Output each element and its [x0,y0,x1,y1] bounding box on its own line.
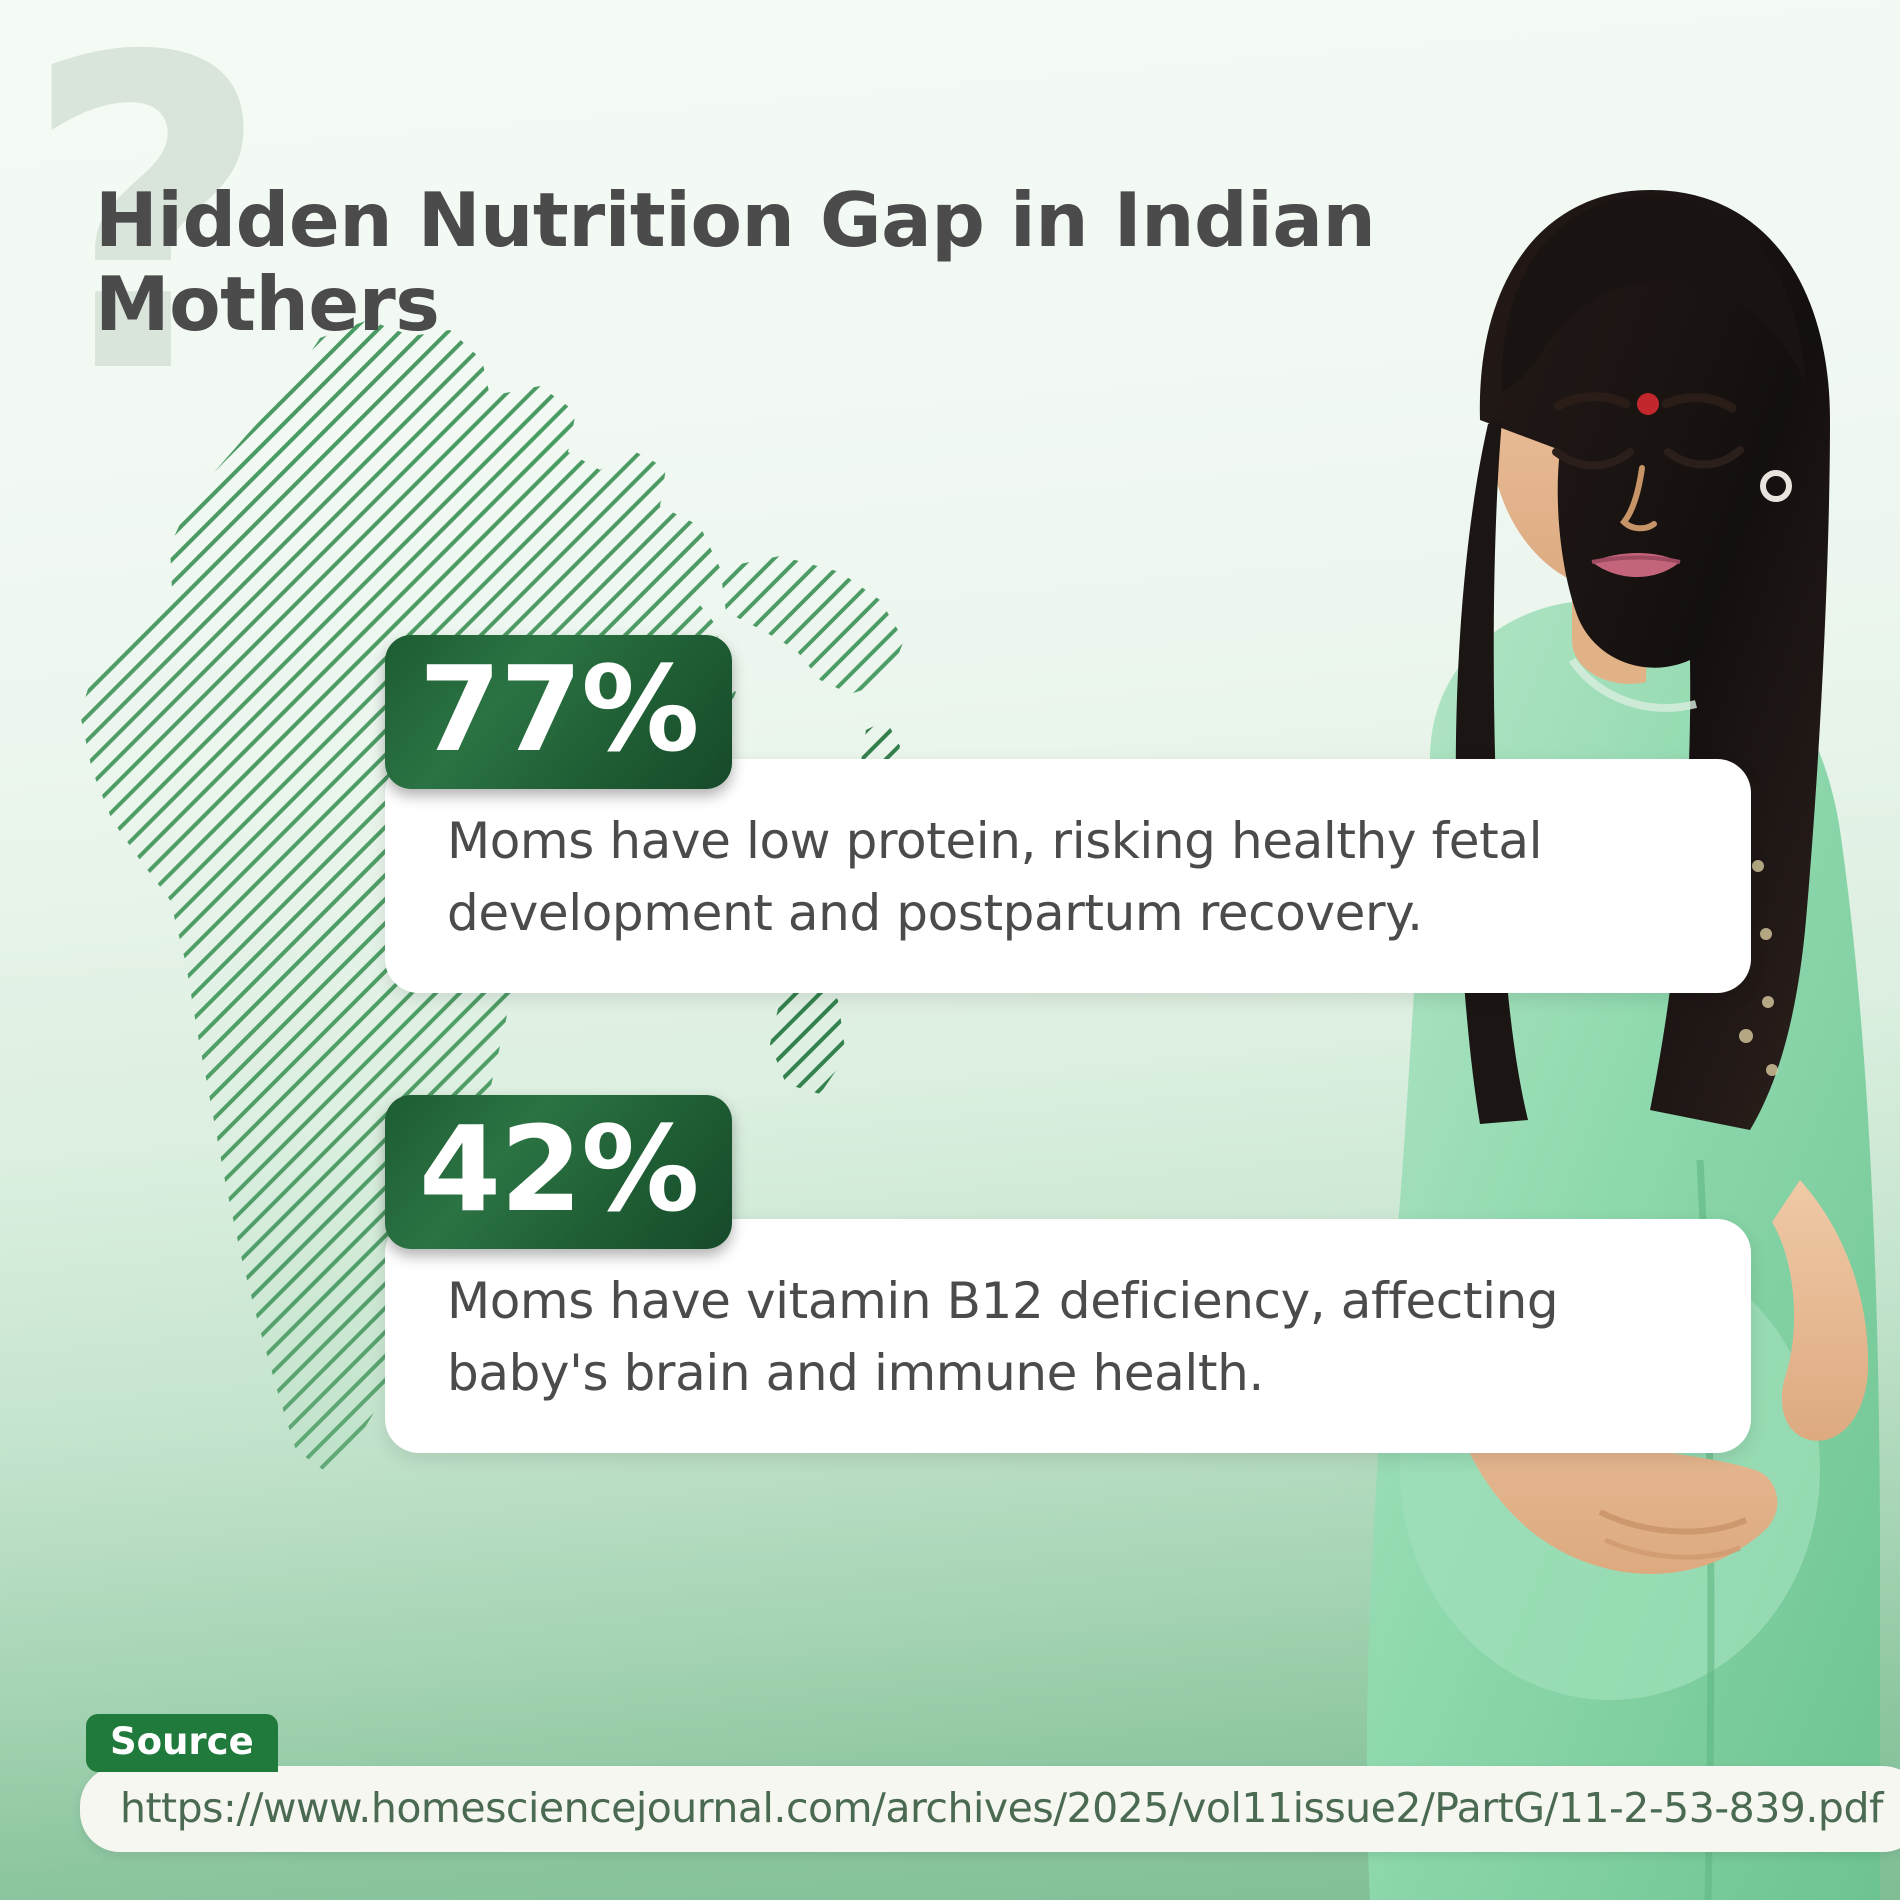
source-section: Source https://www.homesciencejournal.co… [80,1714,1900,1852]
source-url-bar[interactable]: https://www.homesciencejournal.com/archi… [80,1766,1900,1852]
stat-badge-2: 42% [385,1095,732,1249]
stat-description-2: Moms have vitamin B12 deficiency, affect… [447,1265,1695,1409]
stat-value-2: 42% [419,1105,698,1233]
stat-value-1: 77% [419,645,698,773]
stat-card-2: Moms have vitamin B12 deficiency, affect… [385,1219,1751,1453]
page-title: Hidden Nutrition Gap in Indian Mothers [95,178,1525,346]
stat-badge-1: 77% [385,635,732,789]
stat-block-2: 42% Moms have vitamin B12 deficiency, af… [385,1095,1751,1453]
india-map-graphic [20,300,1140,1700]
source-label: Source [86,1714,278,1772]
stat-block-1: 77% Moms have low protein, risking healt… [385,635,1751,993]
infographic-poster: ? [0,0,1900,1900]
source-url-text[interactable]: https://www.homesciencejournal.com/archi… [120,1784,1883,1832]
stat-description-1: Moms have low protein, risking healthy f… [447,805,1695,949]
stat-card-1: Moms have low protein, risking healthy f… [385,759,1751,993]
